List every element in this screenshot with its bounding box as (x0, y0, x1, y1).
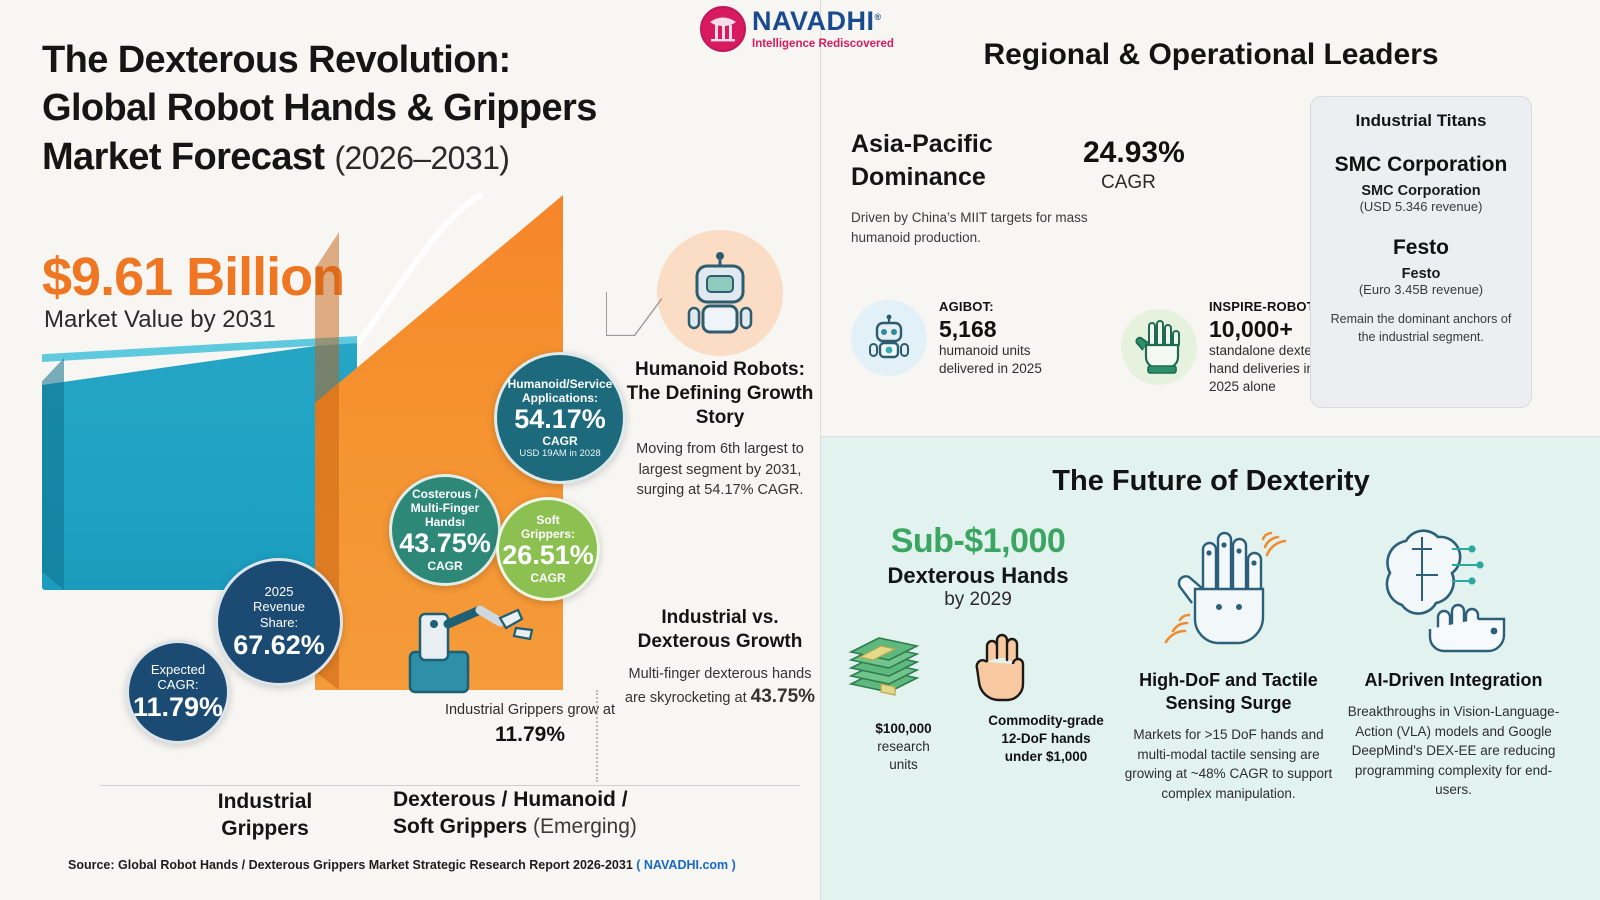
bubble-expected-cagr: Expected CAGR: 11.79% (126, 640, 230, 744)
source-text: Source: Global Robot Hands / Dexterous G… (68, 858, 636, 872)
humanoid-robot-icon (862, 311, 916, 365)
stat-agibot-name: AGIBOT: (939, 298, 1042, 316)
asia-pacific-heading-line2: Dominance (851, 161, 993, 194)
navadhi-logo-text: NAVADHI® Intelligence Rediscovered (752, 6, 894, 50)
titan-smc-name: SMC Corporation (1321, 183, 1521, 199)
bubble-soft-value: 26.51% (502, 541, 594, 571)
headline-market-value-label: Market Value by 2031 (44, 306, 276, 334)
mini-stat-industrial-value: 11.79% (495, 723, 565, 746)
robot-icon (657, 230, 783, 356)
bubble-dexterous-line2: Multi-Finger (411, 501, 480, 515)
feature-1-heading: High-DoF and Tactile Sensing Surge (1121, 669, 1336, 715)
industrial-titans-note: Remain the dominant anchors of the indus… (1321, 311, 1521, 346)
stat-agibot: AGIBOT: 5,168 humanoid units delivered i… (851, 298, 1042, 378)
asia-pacific-heading: Asia-Pacific Dominance (851, 128, 993, 193)
callout-industrial-vs-dexterous: Industrial vs. Dexterous Growth Multi-fi… (620, 606, 820, 711)
robot-icon (851, 300, 927, 376)
navadhi-logo-tagline: Intelligence Rediscovered (752, 38, 894, 50)
leader-line (606, 292, 662, 336)
humanoid-robot-avatar (657, 230, 783, 356)
sub-1000-block: Sub-$1,000 Dexterous Hands by 2029 (843, 522, 1113, 611)
bubble-humanoid-note: USD 19AM in 2028 (519, 448, 600, 459)
industrial-titans-heading: Industrial Titans (1321, 111, 1521, 131)
bubble-humanoid-service: Humanoid/Service Applications: 54.17% CA… (494, 352, 626, 484)
axis-label-industrial: Industrial Grippers (185, 788, 345, 843)
sub-1000-year: by 2029 (843, 589, 1113, 611)
bubble-soft-grippers: Soft Grippers: 26.51% CAGR (496, 497, 600, 601)
callout-growth-body: Multi-finger dexterous hands are skyrock… (620, 664, 820, 712)
axis-label-dexterous-line1: Dexterous / Humanoid / (393, 786, 683, 813)
money-stack-icon (841, 632, 927, 712)
research-units-block: $100,000 research units (841, 632, 966, 775)
titan-smc-revenue: (USD 5.346 revenue) (1321, 199, 1521, 214)
ai-brain-hand-icon (1346, 519, 1561, 669)
bubble-cagr-value: 11.79% (133, 693, 223, 723)
commodity-hands-line1: Commodity-grade (988, 713, 1104, 728)
asia-pacific-heading-line1: Asia-Pacific (851, 128, 993, 161)
mini-stat-industrial-growth: Industrial Grippers grow at 11.79% (440, 700, 620, 750)
tactile-sensing-hand-icon (1159, 519, 1299, 669)
bubble-share-value: 67.62% (233, 631, 325, 661)
research-units-value: $100,000 (875, 721, 931, 736)
titan-smc-big: SMC Corporation (1321, 153, 1521, 177)
sub-1000-value: Sub-$1,000 (843, 522, 1113, 561)
bubble-humanoid-line1: Humanoid/Service (508, 377, 613, 391)
bubble-dexterous-value: 43.75% (399, 529, 491, 559)
axis-label-dexterous-emerging: (Emerging) (527, 815, 637, 838)
asia-pacific-cagr-label: CAGR (1101, 172, 1156, 194)
regional-panel-title: Regional & Operational Leaders (821, 38, 1600, 72)
bubble-dexterous-line1: Costerous / (412, 487, 478, 501)
feature-2-heading: AI-Driven Integration (1346, 669, 1561, 692)
stat-agibot-desc1: humanoid units (939, 342, 1042, 360)
callout-growth-body-value: 43.75% (751, 686, 815, 707)
tactile-hand-icon (1121, 519, 1336, 669)
mini-stat-industrial-text: Industrial Grippers grow at (445, 702, 615, 718)
feature-1-body: Markets for >15 DoF hands and multi-moda… (1121, 725, 1336, 803)
commodity-hands-line3: under $1,000 (971, 748, 1121, 766)
research-units-line3: units (841, 756, 966, 774)
industrial-titans-card: Industrial Titans SMC Corporation SMC Co… (1310, 96, 1532, 408)
robot-hand-icon (1121, 309, 1197, 385)
commodity-hands-caption: Commodity-grade 12-DoF hands under $1,00… (971, 712, 1121, 767)
bubble-humanoid-value: 54.17% (514, 405, 606, 435)
source-link[interactable]: ( NAVADHI.com ) (636, 858, 736, 872)
bubble-soft-unit: CAGR (530, 571, 565, 585)
bubble-share-line2: Revenue (253, 599, 305, 615)
callout-humanoid-robots: Humanoid Robots: The Defining Growth Sto… (620, 358, 820, 501)
axis-label-dexterous-line2-text: Soft Grippers (393, 815, 527, 838)
infographic-root: The Dexterous Revolution: Global Robot H… (0, 0, 1600, 900)
page-title-line1: The Dexterous Revolution: (42, 36, 762, 84)
stat-agibot-desc2: delivered in 2025 (939, 360, 1042, 378)
axis-label-dexterous-line2: Soft Grippers (Emerging) (393, 813, 683, 840)
bubble-cagr-line1: Expected (151, 662, 205, 678)
navadhi-logo-name: NAVADHI® (752, 6, 894, 37)
asia-pacific-cagr-value: 24.93% (1083, 136, 1185, 170)
stat-inspire-robots: INSPIRE-ROBOTS: 10,000+ standalone dexte… (1121, 298, 1338, 397)
left-forecast-panel: The Dexterous Revolution: Global Robot H… (0, 0, 820, 900)
bubble-soft-line2: Grippers: (521, 527, 575, 541)
bubble-soft-line1: Soft (536, 513, 559, 527)
navadhi-logo-name-text: NAVADHI (752, 6, 875, 36)
stat-agibot-value: 5,168 (939, 316, 1042, 342)
feature-2-body: Breakthroughs in Vision-Language-Action … (1346, 702, 1561, 800)
asia-pacific-subtext: Driven by China’s MIIT targets for mass … (851, 208, 1111, 247)
research-units-line2: research (841, 738, 966, 756)
vertical-divider (596, 690, 598, 782)
raised-hand-icon (971, 632, 1033, 704)
cash-stack-icon (841, 632, 966, 712)
titan-festo-name: Festo (1321, 266, 1521, 282)
callout-humanoid-heading: Humanoid Robots: The Defining Growth Sto… (620, 358, 820, 429)
bar-industrial-side-face (42, 358, 64, 590)
navadhi-logo-registered: ® (875, 12, 882, 22)
callout-humanoid-body: Moving from 6th largest to largest segme… (620, 439, 820, 501)
navadhi-logo-mark-icon (700, 6, 746, 52)
title-block: The Dexterous Revolution: Global Robot H… (42, 36, 762, 181)
ai-brain-robot-hand-icon (1374, 519, 1534, 669)
robot-arm-gripper-icon (396, 588, 546, 700)
callout-growth-heading: Industrial vs. Dexterous Growth (620, 606, 820, 654)
bubble-dexterous-unit: CAGR (427, 559, 462, 573)
future-panel-title: The Future of Dexterity (821, 465, 1600, 498)
bubble-2025-revenue-share: 2025 Revenue Share: 67.62% (215, 558, 343, 686)
sub-1000-mid: Dexterous Hands (843, 563, 1113, 589)
bubble-humanoid-unit: CAGR (542, 434, 577, 448)
future-of-dexterity-panel: The Future of Dexterity Sub-$1,000 Dexte… (820, 436, 1600, 900)
bubble-share-line1: 2025 (265, 584, 294, 600)
titan-festo-big: Festo (1321, 236, 1521, 260)
bubble-dexterous-multifinger: Costerous / Multi-Finger Handsı 43.75% C… (389, 474, 501, 586)
page-title-line3: Market Forecast (2026–2031) (42, 133, 762, 181)
headline-market-value: $9.61 Billion (42, 246, 344, 308)
titan-festo-revenue: (Euro 3.45B revenue) (1321, 282, 1521, 297)
stat-agibot-text: AGIBOT: 5,168 humanoid units delivered i… (939, 298, 1042, 378)
bubble-dexterous-line3: Handsı (425, 515, 465, 529)
banyan-tree-icon (702, 8, 744, 50)
bubble-cagr-line2: CAGR: (157, 677, 198, 693)
axis-label-dexterous: Dexterous / Humanoid / Soft Grippers (Em… (393, 786, 683, 841)
commodity-hands-line2: 12-DoF hands (971, 730, 1121, 748)
hand-icon (971, 632, 1121, 704)
feature-ai-driven-integration: AI-Driven Integration Breakthroughs in V… (1346, 519, 1561, 800)
feature-high-dof-tactile: High-DoF and Tactile Sensing Surge Marke… (1121, 519, 1336, 803)
page-title-line3-text: Market Forecast (42, 136, 324, 178)
navadhi-logo[interactable]: NAVADHI® Intelligence Rediscovered (700, 4, 920, 56)
page-title-years: (2026–2031) (334, 140, 509, 176)
axis-label-industrial-line2: Grippers (185, 815, 345, 842)
bubble-share-line3: Share: (260, 615, 298, 631)
axis-label-industrial-line1: Industrial (185, 788, 345, 815)
research-units-caption: $100,000 research units (841, 720, 966, 775)
commodity-hands-block: Commodity-grade 12-DoF hands under $1,00… (971, 632, 1121, 767)
source-line: Source: Global Robot Hands / Dexterous G… (68, 858, 736, 872)
dexterous-hand-icon (1132, 319, 1186, 375)
page-title-line2: Global Robot Hands & Grippers (42, 84, 762, 132)
bubble-humanoid-line2: Applications: (522, 391, 598, 405)
bar-industrial-grippers (42, 340, 357, 590)
